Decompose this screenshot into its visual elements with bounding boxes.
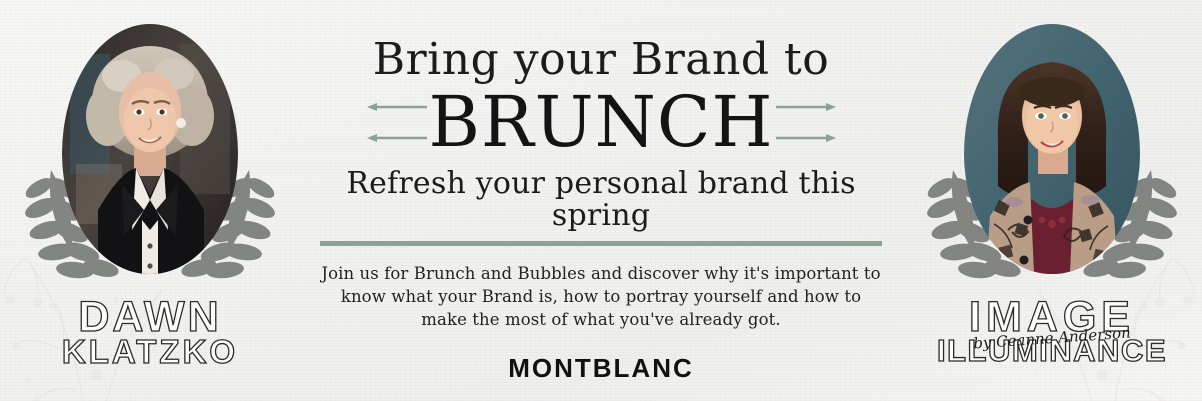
double-arrow-left-icon <box>363 102 429 143</box>
banner-center-content: Bring your Brand to BRUNCH <box>301 0 901 401</box>
speaker-first-name-left: DAWN <box>0 296 300 338</box>
speaker-photo-left <box>62 24 238 274</box>
headline-line-2: BRUNCH <box>429 87 774 157</box>
body-paragraph: Join us for Brunch and Bubbles and disco… <box>317 263 885 331</box>
speaker-block-right: IMAGE ILLUMINANCE by Ceanne Anderson <box>902 0 1202 401</box>
headline-brunch-row: BRUNCH <box>301 84 901 160</box>
headline-subtitle: Refresh your personal brand this spring <box>301 168 901 231</box>
headline-line-1: Bring your Brand to <box>301 38 901 82</box>
speaker-name-left: DAWN KLATZKO <box>0 296 300 368</box>
event-banner: DAWN KLATZKO <box>0 0 1202 401</box>
section-divider <box>320 241 882 246</box>
speaker-block-left: DAWN KLATZKO <box>0 0 300 401</box>
sponsor-logo: MONTBLANC <box>301 353 901 384</box>
speaker-photo-right <box>964 24 1140 274</box>
double-arrow-right-icon <box>774 102 840 143</box>
speaker-name-right: IMAGE ILLUMINANCE by Ceanne Anderson <box>902 296 1202 367</box>
speaker-last-name-left: KLATZKO <box>0 336 300 368</box>
